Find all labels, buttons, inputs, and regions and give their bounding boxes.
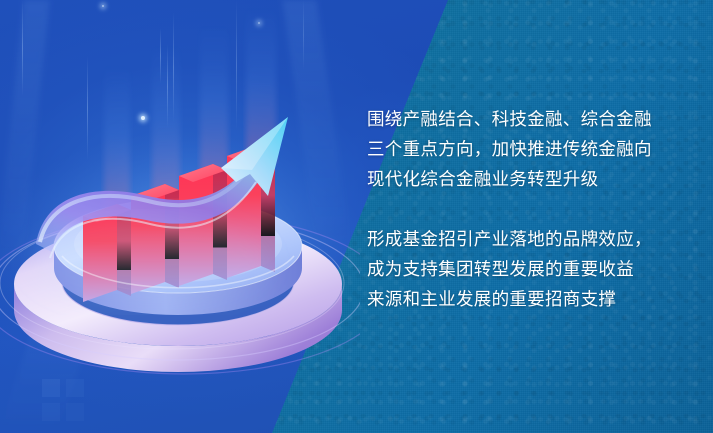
copy-block: 围绕产融结合、科技金融、综合金融 三个重点方向，加快推进传统金融向 现代化综合金…: [367, 104, 687, 314]
paragraph-1: 围绕产融结合、科技金融、综合金融 三个重点方向，加快推进传统金融向 现代化综合金…: [367, 104, 687, 194]
paragraph-2: 形成基金招引产业落地的品牌效应， 成为支持集团转型发展的重要收益 来源和主业发展…: [367, 224, 687, 314]
platform-bloom: [30, 218, 270, 306]
banner-stage: 围绕产融结合、科技金融、综合金融 三个重点方向，加快推进传统金融向 现代化综合金…: [0, 0, 713, 433]
growth-chart-illustration: [0, 0, 360, 433]
